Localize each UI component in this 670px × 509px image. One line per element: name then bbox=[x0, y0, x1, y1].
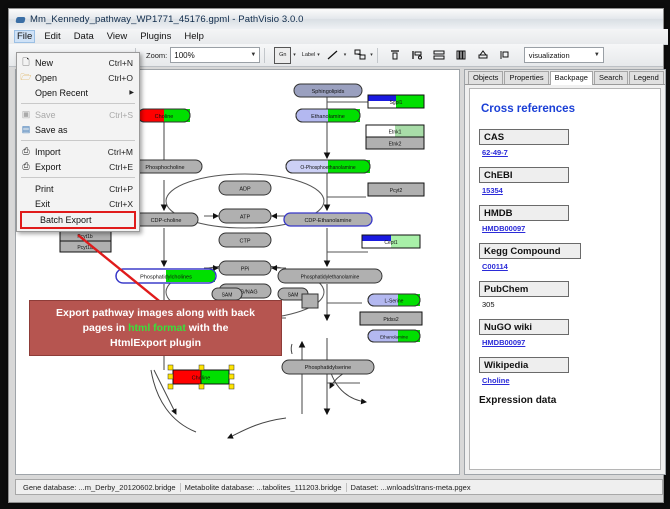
annotation-text: Export pathway images along with back pa… bbox=[50, 306, 261, 351]
save-icon: ▣ bbox=[17, 109, 35, 120]
window-title: Mm_Kennedy_pathway_WP1771_45176.gpml - P… bbox=[30, 14, 304, 25]
db-header-kegg-compound: Kegg Compound bbox=[479, 243, 581, 259]
gene-etnk2[interactable]: Etnk2 bbox=[366, 137, 424, 149]
svg-text:PPi: PPi bbox=[241, 267, 250, 273]
svg-text:SAM: SAM bbox=[222, 293, 233, 299]
db-header-pubchem: PubChem bbox=[479, 281, 569, 297]
title-bar: Mm_Kennedy_pathway_WP1771_45176.gpml - P… bbox=[9, 9, 663, 30]
stack-icon[interactable] bbox=[431, 47, 448, 64]
chevron-down-icon[interactable]: ▾ bbox=[370, 52, 373, 58]
menu-item-batch-export[interactable]: Batch Export bbox=[20, 211, 136, 229]
expression-data-heading: Expression data bbox=[479, 395, 651, 406]
pathvisio-icon bbox=[15, 14, 26, 25]
menu-file[interactable]: File bbox=[14, 30, 35, 43]
node-ppi[interactable]: PPi bbox=[219, 261, 271, 275]
svg-text:CTP: CTP bbox=[240, 239, 251, 245]
zoom-label: Zoom: bbox=[146, 51, 167, 60]
callout-line1: Export pathway images along with back bbox=[56, 307, 255, 319]
gene-pcyt2[interactable]: Pcyt2 bbox=[368, 183, 424, 196]
menu-item-open-recent-label: Open Recent bbox=[35, 88, 139, 98]
align-center-icon[interactable] bbox=[453, 47, 470, 64]
svg-text:CDP-Ethanolamine: CDP-Ethanolamine bbox=[304, 218, 351, 224]
node-o-phosphoethanolamine[interactable]: O-Phosphoethanolamine bbox=[286, 160, 370, 173]
node-ctp[interactable]: CTP bbox=[219, 233, 271, 247]
menu-plugins[interactable]: Plugins bbox=[138, 31, 173, 42]
svg-text:Sgpl1: Sgpl1 bbox=[390, 100, 403, 106]
chevron-down-icon[interactable]: ▾ bbox=[293, 52, 296, 58]
node-phosphatidylcholines[interactable]: Phosphatidylcholines bbox=[116, 269, 216, 283]
db-link-cas[interactable]: 62-49-7 bbox=[482, 148, 651, 157]
status-metabolite-database: Metabolite database: ...tabolites_111203… bbox=[181, 483, 347, 492]
tab-search[interactable]: Search bbox=[594, 71, 628, 84]
menu-item-batch-export-label: Batch Export bbox=[40, 215, 134, 225]
db-value-pubchem: 305 bbox=[482, 300, 651, 309]
menu-item-export-label: Export bbox=[35, 162, 109, 172]
menu-item-save-shortcut: Ctrl+S bbox=[109, 110, 139, 120]
node-choline-bottom[interactable]: Choline bbox=[168, 365, 234, 389]
menu-item-new[interactable]: 🗋 New Ctrl+N bbox=[17, 55, 139, 70]
menu-item-save-label: Save bbox=[35, 110, 109, 120]
menu-item-print[interactable]: Print Ctrl+P bbox=[17, 181, 139, 196]
open-folder-icon: 🗁 bbox=[17, 70, 35, 86]
chevron-down-icon[interactable]: ▾ bbox=[317, 52, 320, 58]
gene-sgpl1[interactable]: Sgpl1 bbox=[368, 95, 424, 108]
export-icon: ⎙ bbox=[17, 161, 35, 172]
menu-help[interactable]: Help bbox=[182, 31, 206, 42]
align-left-icon[interactable] bbox=[409, 47, 426, 64]
save-as-icon: ▤ bbox=[17, 124, 35, 135]
shape-tool-icon[interactable] bbox=[351, 47, 368, 64]
menu-item-open-label: Open bbox=[35, 73, 108, 83]
db-header-chebi: ChEBI bbox=[479, 167, 569, 183]
svg-text:Phosphatidylcholines: Phosphatidylcholines bbox=[140, 275, 192, 281]
pathvisio-window: Mm_Kennedy_pathway_WP1771_45176.gpml - P… bbox=[8, 8, 664, 503]
node-l-serine[interactable]: L-Serine bbox=[368, 294, 420, 306]
menu-separator bbox=[21, 140, 135, 141]
menu-item-save-as[interactable]: ▤ Save as bbox=[17, 122, 139, 137]
menu-view[interactable]: View bbox=[105, 31, 129, 42]
gene-etnk1[interactable]: Etnk1 bbox=[366, 125, 424, 137]
svg-text:Ethanolamine: Ethanolamine bbox=[380, 335, 409, 340]
screenshot-root: Mm_Kennedy_pathway_WP1771_45176.gpml - P… bbox=[0, 0, 670, 509]
visualization-select[interactable]: visualization ▼ bbox=[524, 47, 604, 63]
db-header-wikipedia: Wikipedia bbox=[479, 357, 569, 373]
tab-properties[interactable]: Properties bbox=[504, 71, 548, 84]
db-link-wikipedia[interactable]: Choline bbox=[482, 376, 651, 385]
menu-item-open-shortcut: Ctrl+O bbox=[108, 73, 139, 83]
menu-item-exit-label: Exit bbox=[35, 199, 109, 209]
menu-item-save: ▣ Save Ctrl+S bbox=[17, 107, 139, 122]
menu-item-export-shortcut: Ctrl+E bbox=[109, 162, 139, 172]
label-tool-button[interactable]: Label bbox=[302, 52, 315, 58]
file-menu-dropdown[interactable]: 🗋 New Ctrl+N 🗁 Open Ctrl+O Open Recent ▶… bbox=[16, 52, 140, 232]
align-top-icon[interactable] bbox=[387, 47, 404, 64]
db-header-nugo-wiki: NuGO wiki bbox=[479, 319, 569, 335]
svg-text:Cept1: Cept1 bbox=[384, 240, 398, 246]
svg-text:L-Serine: L-Serine bbox=[385, 299, 404, 305]
menu-item-print-shortcut: Ctrl+P bbox=[109, 184, 139, 194]
node-cdp-ethanolamine[interactable]: CDP-Ethanolamine bbox=[284, 213, 372, 226]
side-panel-tabs: Objects Properties Backpage Search Legen… bbox=[465, 70, 665, 85]
callout-line2b: with the bbox=[186, 322, 229, 334]
node-atp[interactable]: ATP bbox=[219, 209, 271, 223]
node-phosphatidylethanolamine[interactable]: Phosphatidylethanolamine bbox=[278, 269, 382, 283]
callout-line2a: pages in bbox=[83, 322, 129, 334]
status-gene-database: Gene database: ...m_Derby_20120602.bridg… bbox=[19, 483, 181, 492]
node-choline-top[interactable]: Choline bbox=[138, 109, 190, 122]
svg-text:SAM: SAM bbox=[288, 293, 299, 299]
svg-text:Choline: Choline bbox=[155, 114, 174, 120]
db-link-nugo-wiki[interactable]: HMDB00097 bbox=[482, 338, 651, 347]
svg-text:ATP: ATP bbox=[240, 215, 251, 221]
menu-item-save-as-label: Save as bbox=[35, 125, 133, 135]
menu-data[interactable]: Data bbox=[72, 31, 96, 42]
chevron-down-icon: ▼ bbox=[250, 52, 259, 58]
menu-item-new-label: New bbox=[35, 58, 109, 68]
menu-bar: File Edit Data View Plugins Help bbox=[9, 29, 668, 45]
node-phosphatidylserine[interactable]: Phosphatidylserine bbox=[282, 360, 374, 374]
menu-item-export[interactable]: ⎙ Export Ctrl+E bbox=[17, 159, 139, 174]
menu-item-exit[interactable]: Exit Ctrl+X bbox=[17, 196, 139, 211]
menu-item-exit-shortcut: Ctrl+X bbox=[109, 199, 139, 209]
svg-text:CDP-choline: CDP-choline bbox=[151, 218, 182, 224]
svg-text:Etnk2: Etnk2 bbox=[389, 142, 402, 148]
db-header-cas: CAS bbox=[479, 129, 569, 145]
zoom-select[interactable]: 100% ▼ bbox=[170, 47, 260, 63]
db-link-hmdb[interactable]: HMDB00097 bbox=[482, 224, 651, 233]
toolbar-separator bbox=[264, 48, 265, 63]
datanode-tool-button[interactable]: Gn bbox=[274, 47, 291, 64]
menu-separator bbox=[21, 103, 135, 104]
svg-text:Phosphocholine: Phosphocholine bbox=[145, 165, 184, 171]
new-document-icon: 🗋 bbox=[17, 55, 35, 71]
svg-text:Ptdss2: Ptdss2 bbox=[383, 317, 399, 323]
svg-text:Phosphatidylserine: Phosphatidylserine bbox=[305, 365, 351, 371]
node-cdp-choline[interactable]: CDP-choline bbox=[134, 213, 198, 226]
menu-item-import-shortcut: Ctrl+M bbox=[108, 147, 139, 157]
chevron-down-icon: ▼ bbox=[594, 52, 603, 58]
menu-item-import[interactable]: ⎙ Import Ctrl+M bbox=[17, 144, 139, 159]
menu-separator bbox=[21, 177, 135, 178]
backpage-content: Cross references CAS 62-49-7 ChEBI 15354… bbox=[469, 88, 661, 470]
svg-text:Phosphatidylethanolamine: Phosphatidylethanolamine bbox=[301, 275, 360, 281]
menu-item-new-shortcut: Ctrl+N bbox=[109, 58, 139, 68]
menu-item-import-label: Import bbox=[35, 147, 108, 157]
line-tool-icon[interactable] bbox=[325, 47, 342, 64]
svg-text:Choline: Choline bbox=[192, 376, 211, 382]
visualization-value: visualization bbox=[525, 51, 570, 60]
menu-item-open-recent[interactable]: Open Recent ▶ bbox=[17, 85, 139, 100]
svg-text:Pcyt2: Pcyt2 bbox=[390, 188, 403, 194]
zoom-value: 100% bbox=[171, 51, 194, 60]
callout-line2-green: html format bbox=[128, 322, 186, 334]
db-header-hmdb: HMDB bbox=[479, 205, 569, 221]
chevron-down-icon[interactable]: ▾ bbox=[344, 52, 347, 58]
svg-text:Ethanolamine: Ethanolamine bbox=[311, 114, 345, 120]
status-bar: Gene database: ...m_Derby_20120602.bridg… bbox=[15, 479, 663, 495]
status-dataset: Dataset: ...wnloads\trans-meta.pgex bbox=[347, 483, 475, 492]
db-link-kegg-compound[interactable]: C00114 bbox=[482, 262, 651, 271]
tab-legend[interactable]: Legend bbox=[629, 71, 664, 84]
import-icon: ⎙ bbox=[17, 146, 35, 157]
gene-cept1[interactable]: Cept1 bbox=[362, 235, 420, 248]
callout-line3: HtmlExport plugin bbox=[110, 337, 201, 349]
svg-text:O-Phosphoethanolamine: O-Phosphoethanolamine bbox=[300, 165, 356, 171]
node-ethanolamine-top[interactable]: Ethanolamine bbox=[296, 109, 360, 122]
toolbar-separator bbox=[377, 48, 378, 63]
db-link-chebi[interactable]: 15354 bbox=[482, 186, 651, 195]
menu-item-open[interactable]: 🗁 Open Ctrl+O bbox=[17, 70, 139, 85]
annotation-callout: Export pathway images along with back pa… bbox=[29, 300, 282, 356]
svg-text:Etnk1: Etnk1 bbox=[389, 130, 402, 136]
side-panel: Objects Properties Backpage Search Legen… bbox=[464, 69, 666, 475]
node-adp[interactable]: ADP bbox=[219, 181, 271, 195]
svg-text:ADP: ADP bbox=[239, 187, 251, 193]
gene-ptdss2[interactable]: Ptdss2 bbox=[360, 312, 422, 325]
menu-edit[interactable]: Edit bbox=[42, 31, 62, 42]
cross-references-heading: Cross references bbox=[481, 103, 651, 115]
svg-text:Sphingolipids: Sphingolipids bbox=[312, 89, 345, 95]
tab-backpage[interactable]: Backpage bbox=[550, 71, 593, 85]
tab-objects[interactable]: Objects bbox=[468, 71, 503, 84]
node-connector-box[interactable] bbox=[302, 294, 318, 308]
menu-item-print-label: Print bbox=[35, 184, 109, 194]
group-icon[interactable] bbox=[475, 47, 492, 64]
gene-pcyt1a[interactable]: Pcyt1a bbox=[60, 241, 111, 252]
ungroup-icon[interactable] bbox=[497, 47, 514, 64]
chevron-right-icon: ▶ bbox=[129, 89, 134, 96]
node-sphingolipids[interactable]: Sphingolipids bbox=[294, 84, 362, 97]
node-sam-left[interactable]: SAM bbox=[212, 288, 242, 300]
node-ethanolamine-right[interactable]: Ethanolamine bbox=[368, 330, 420, 342]
